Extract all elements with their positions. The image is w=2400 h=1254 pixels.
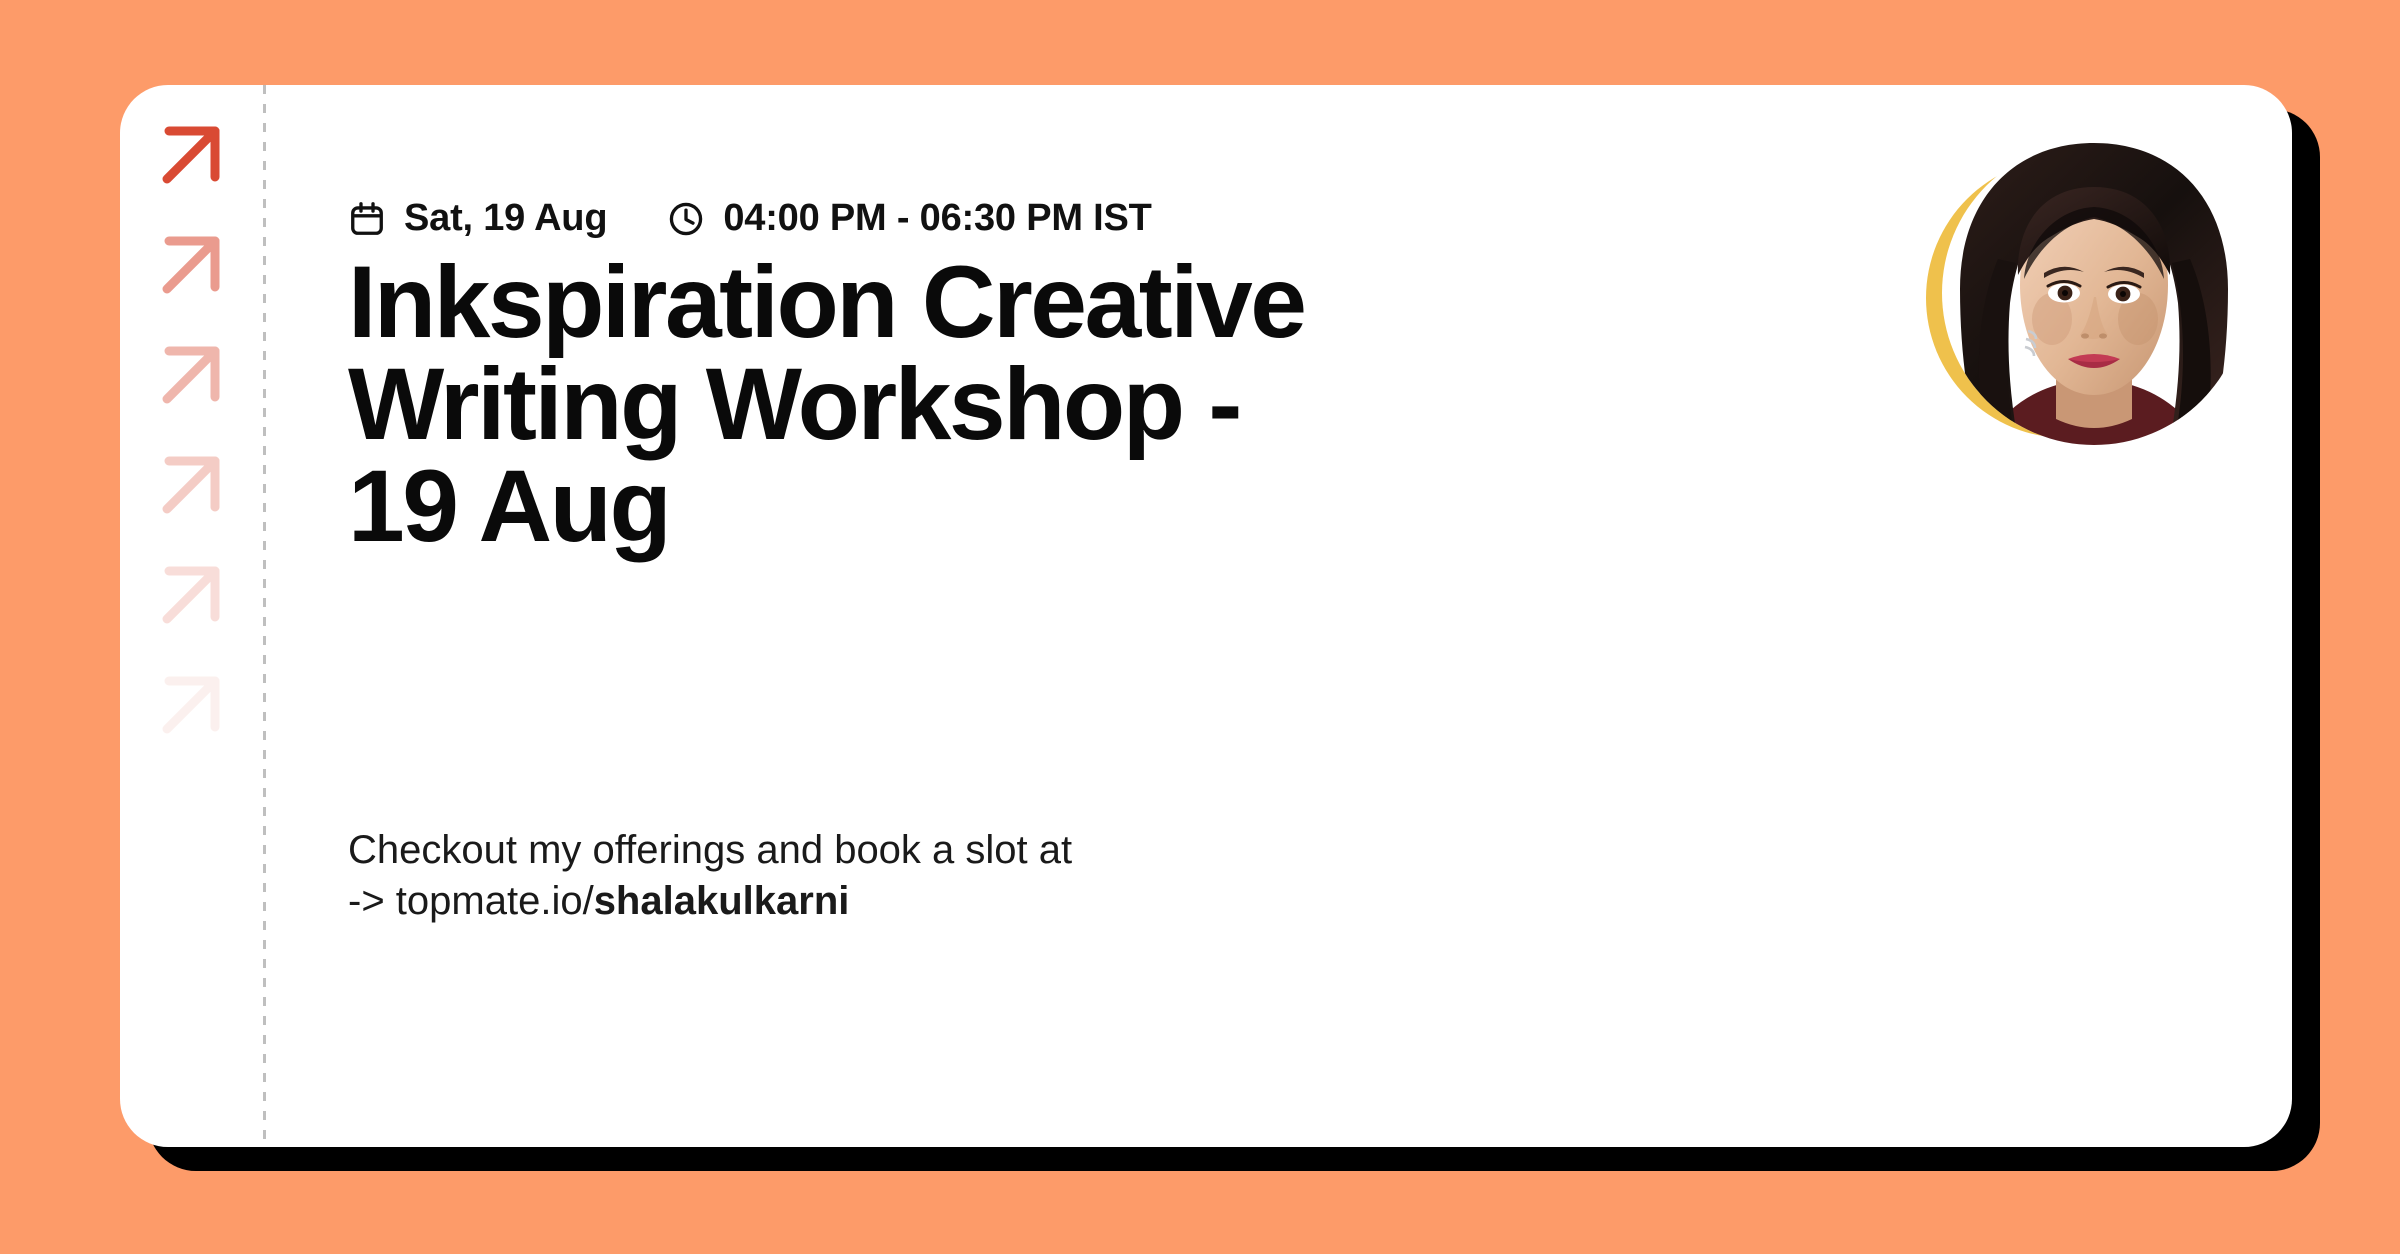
event-title-line-1: Inkspiration Creative	[348, 251, 1648, 353]
arrow-up-right-icon	[161, 233, 223, 295]
event-ticket-card-stage: Sat, 19 Aug 04:00 PM - 06:30 PM IST Inks…	[120, 85, 2292, 1147]
avatar-photo	[1936, 133, 2246, 463]
arrow-up-right-icon	[161, 123, 223, 185]
event-date: Sat, 19 Aug	[348, 197, 607, 240]
arrow-up-right-icon	[161, 343, 223, 405]
cta-link-prefix: -> topmate.io/	[348, 879, 594, 923]
calendar-icon	[348, 200, 386, 238]
avatar	[1916, 133, 2246, 463]
booking-cta: Checkout my offerings and book a slot at…	[348, 825, 1072, 927]
cta-headline: Checkout my offerings and book a slot at	[348, 825, 1072, 876]
event-time-label: 04:00 PM - 06:30 PM IST	[723, 197, 1151, 240]
decorative-arrow-rail	[120, 85, 264, 1147]
ticket-perforation-divider	[263, 85, 266, 1147]
event-title-line-3: 19 Aug	[348, 455, 1648, 557]
avatar-illustration	[1916, 133, 2246, 463]
event-meta-row: Sat, 19 Aug 04:00 PM - 06:30 PM IST	[348, 197, 1152, 240]
event-date-label: Sat, 19 Aug	[404, 197, 607, 240]
event-title-line-2: Writing Workshop -	[348, 353, 1648, 455]
event-title: Inkspiration Creative Writing Workshop -…	[348, 251, 1648, 557]
event-time: 04:00 PM - 06:30 PM IST	[667, 197, 1151, 240]
clock-icon	[667, 200, 705, 238]
arrow-up-right-icon	[161, 563, 223, 625]
arrow-up-right-icon	[161, 453, 223, 515]
event-ticket-card[interactable]: Sat, 19 Aug 04:00 PM - 06:30 PM IST Inks…	[120, 85, 2292, 1147]
cta-profile-handle: shalakulkarni	[594, 879, 850, 923]
cta-link-line[interactable]: -> topmate.io/shalakulkarni	[348, 876, 1072, 927]
card-content: Sat, 19 Aug 04:00 PM - 06:30 PM IST Inks…	[348, 85, 2292, 1147]
arrow-up-right-icon	[161, 673, 223, 735]
